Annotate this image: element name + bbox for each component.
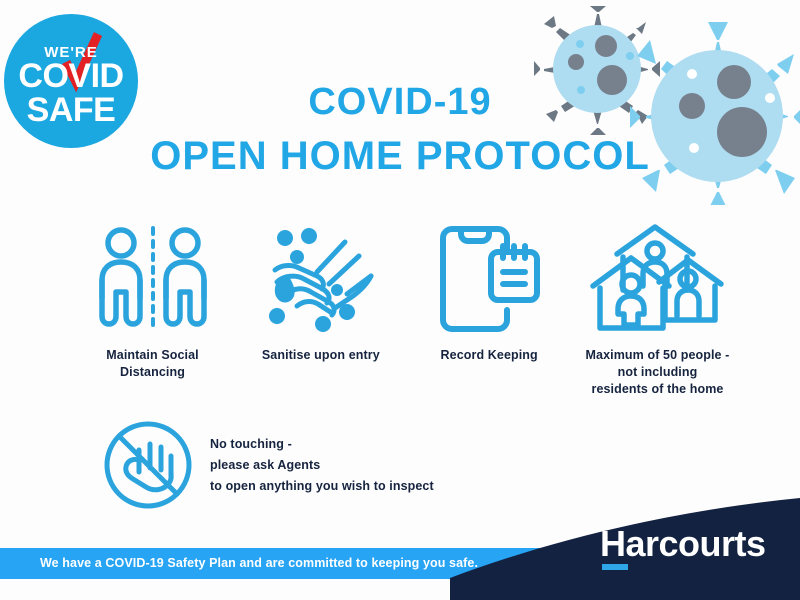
protocol-item-sanitise: Sanitise upon entry [238, 225, 403, 364]
no-touching-line-3: to open anything you wish to inspect [210, 476, 434, 497]
no-touching-line-1: No touching - [210, 434, 434, 455]
harcourts-logo-underline [602, 564, 628, 570]
protocol-label-record-keeping: Record Keeping [407, 347, 572, 364]
badge-line-safe: SAFE [4, 92, 138, 128]
footer-message: We have a COVID-19 Safety Plan and are c… [40, 556, 478, 570]
no-touching-line-2: please ask Agents [210, 455, 434, 476]
harcourts-logo-text: Harcourts [600, 524, 780, 564]
no-touching-icon [100, 420, 196, 510]
protocol-item-social-distancing: Maintain Social Distancing [70, 225, 235, 381]
protocol-label-sanitise: Sanitise upon entry [238, 347, 403, 364]
virus-particle-blue-spikes-icon [630, 20, 800, 205]
social-distancing-icon [70, 225, 235, 335]
protocol-icon-row: Maintain Social Distancing [70, 225, 740, 398]
badge-line-covid: COVID [4, 58, 138, 94]
label-line: not including [575, 364, 740, 381]
protocol-item-record-keeping: Record Keeping [407, 225, 572, 364]
protocol-label-max-people: Maximum of 50 people - not including res… [575, 347, 740, 398]
label-line: Sanitise upon entry [238, 347, 403, 364]
label-line: Maximum of 50 people - [575, 347, 740, 364]
label-line: residents of the home [575, 381, 740, 398]
hand-sanitise-icon [238, 225, 403, 335]
label-line: Record Keeping [407, 347, 572, 364]
phone-clipboard-icon [407, 225, 572, 335]
protocol-label-social-distancing: Maintain Social Distancing [70, 347, 235, 381]
title-line-open-home-protocol: OPEN HOME PROTOCOL [150, 132, 650, 180]
harcourts-logo: Harcourts [600, 524, 780, 564]
label-line: Distancing [70, 364, 235, 381]
protocol-item-max-people: Maximum of 50 people - not including res… [575, 225, 740, 398]
no-touching-block: No touching - please ask Agents to open … [100, 420, 434, 510]
covid-safe-badge: WE'RE COVID SAFE [4, 14, 138, 148]
label-line: Maintain Social [70, 347, 235, 364]
covid-open-home-protocol-poster: WE'RE COVID SAFE COVID-19 OPEN HOME PROT… [0, 0, 800, 600]
houses-people-icon [575, 225, 740, 335]
no-touching-text: No touching - please ask Agents to open … [210, 434, 434, 497]
